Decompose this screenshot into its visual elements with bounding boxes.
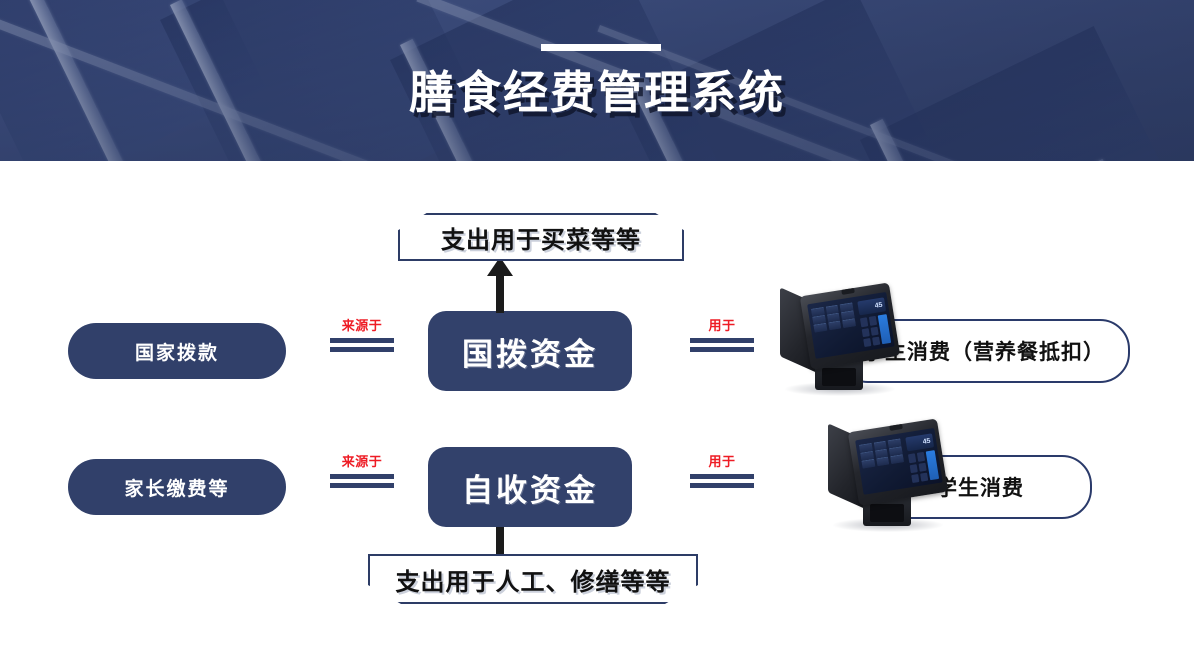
pos-key (872, 337, 880, 346)
arrow-shaft-up (496, 273, 504, 313)
pos-screen: 45 (855, 428, 942, 494)
source-pill-national[interactable]: 国家拨款 (68, 323, 286, 379)
connector-label: 来源于 (330, 318, 394, 334)
pos-keypad (860, 315, 891, 348)
connector-bar-bottom (330, 347, 394, 352)
pos-key (910, 464, 918, 473)
connector-from-national: 来源于 (330, 318, 394, 352)
fund-box-national[interactable]: 国拨资金 (428, 311, 632, 391)
connector-bar-top (330, 338, 394, 343)
connector-bar-bottom (690, 483, 754, 488)
pos-key (871, 327, 879, 336)
page-title: 膳食经费管理系统 (0, 64, 1194, 122)
pos-screen-bezel: 45 (800, 283, 901, 370)
pos-key (863, 338, 871, 347)
pos-key (908, 454, 916, 463)
callout-label: 支出用于人工、修缮等等 (396, 562, 671, 597)
pos-menu-tile (876, 457, 890, 467)
connector-bar-top (330, 474, 394, 479)
source-pill-label: 国家拨款 (135, 338, 219, 365)
source-pill-label: 家长缴费等 (124, 474, 229, 501)
pos-key (920, 473, 928, 482)
title-rule (541, 44, 661, 51)
connector-to-student-consumption-1: 用于 (690, 318, 754, 352)
pos-menu-tile (814, 324, 828, 334)
pos-amount-display: 45 (857, 298, 886, 316)
connector-bar-top (690, 474, 754, 479)
fund-box-selfcollect[interactable]: 自收资金 (428, 447, 632, 527)
pos-base-slot (870, 504, 904, 522)
pos-screen-menu-grid (807, 297, 863, 359)
page-header: 膳食经费管理系统 (0, 0, 1194, 161)
callout-national-expense: 支出用于买菜等等 (398, 213, 684, 261)
pos-menu-tile (828, 321, 842, 331)
pos-menu-tile (842, 319, 856, 329)
fund-box-label: 自收资金 (462, 465, 598, 510)
pos-keypad (908, 451, 939, 484)
source-pill-parent-fee[interactable]: 家长缴费等 (68, 459, 286, 515)
pos-key (860, 318, 868, 327)
diagram-canvas: 国家拨款 来源于 国拨资金 支出用于买菜等等 用于 学生消费（营养餐抵扣） (0, 161, 1194, 670)
pos-terminal-icon: 45 (826, 421, 948, 533)
pos-key (917, 452, 925, 461)
connector-bar-bottom (330, 483, 394, 488)
fund-box-label: 国拨资金 (462, 329, 598, 374)
pos-screen-bezel: 45 (848, 419, 949, 506)
connector-bar-bottom (690, 347, 754, 352)
pos-key (862, 328, 870, 337)
connector-from-parent-fee: 来源于 (330, 454, 394, 488)
connector-to-student-consumption-2: 用于 (690, 454, 754, 488)
connector-label: 来源于 (330, 454, 394, 470)
pos-base-slot (822, 368, 856, 386)
pos-key (869, 316, 877, 325)
pos-terminal-icon: 45 (778, 285, 900, 397)
connector-bar-top (690, 338, 754, 343)
pos-menu-tile (890, 455, 904, 465)
connector-label: 用于 (690, 318, 754, 334)
pos-key (919, 463, 927, 472)
callout-selfcollect-expense: 支出用于人工、修缮等等 (368, 554, 698, 604)
callout-label: 支出用于买菜等等 (441, 220, 641, 255)
pos-camera (889, 424, 903, 431)
pos-screen-menu-grid (855, 433, 911, 495)
connector-label: 用于 (690, 454, 754, 470)
pos-camera (841, 288, 855, 295)
pos-key (911, 474, 919, 483)
pos-amount-display: 45 (905, 434, 934, 452)
pos-screen: 45 (807, 292, 894, 358)
pos-menu-tile (862, 460, 876, 470)
